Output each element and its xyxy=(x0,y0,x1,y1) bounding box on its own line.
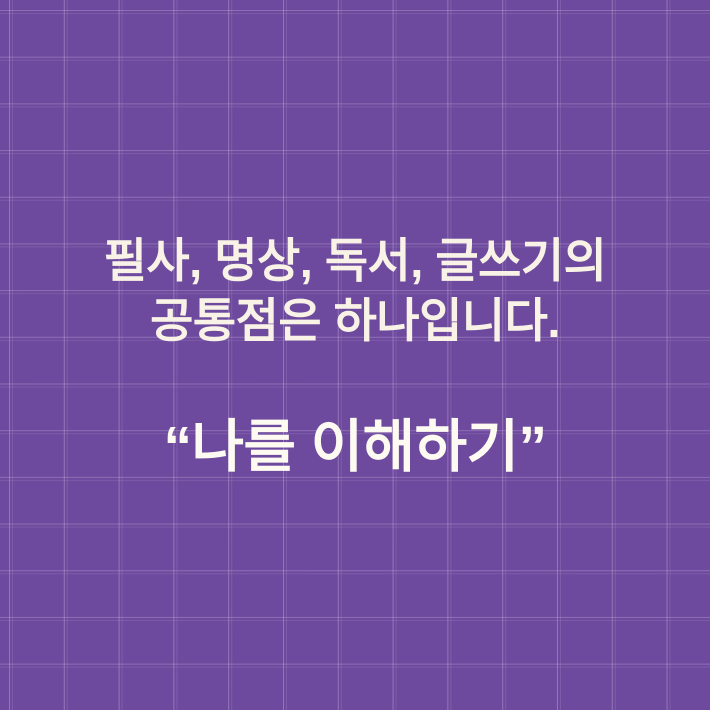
headline: 필사, 명상, 독서, 글쓰기의 공통점은 하나입니다. xyxy=(104,231,607,351)
headline-line-2: 공통점은 하나입니다. xyxy=(104,291,607,351)
quote-text: “나를 이해하기” xyxy=(164,415,547,479)
headline-line-1: 필사, 명상, 독서, 글쓰기의 xyxy=(104,231,607,291)
quote-card: 필사, 명상, 독서, 글쓰기의 공통점은 하나입니다. “나를 이해하기” xyxy=(0,0,710,710)
text-content-stack: 필사, 명상, 독서, 글쓰기의 공통점은 하나입니다. “나를 이해하기” xyxy=(0,0,710,710)
